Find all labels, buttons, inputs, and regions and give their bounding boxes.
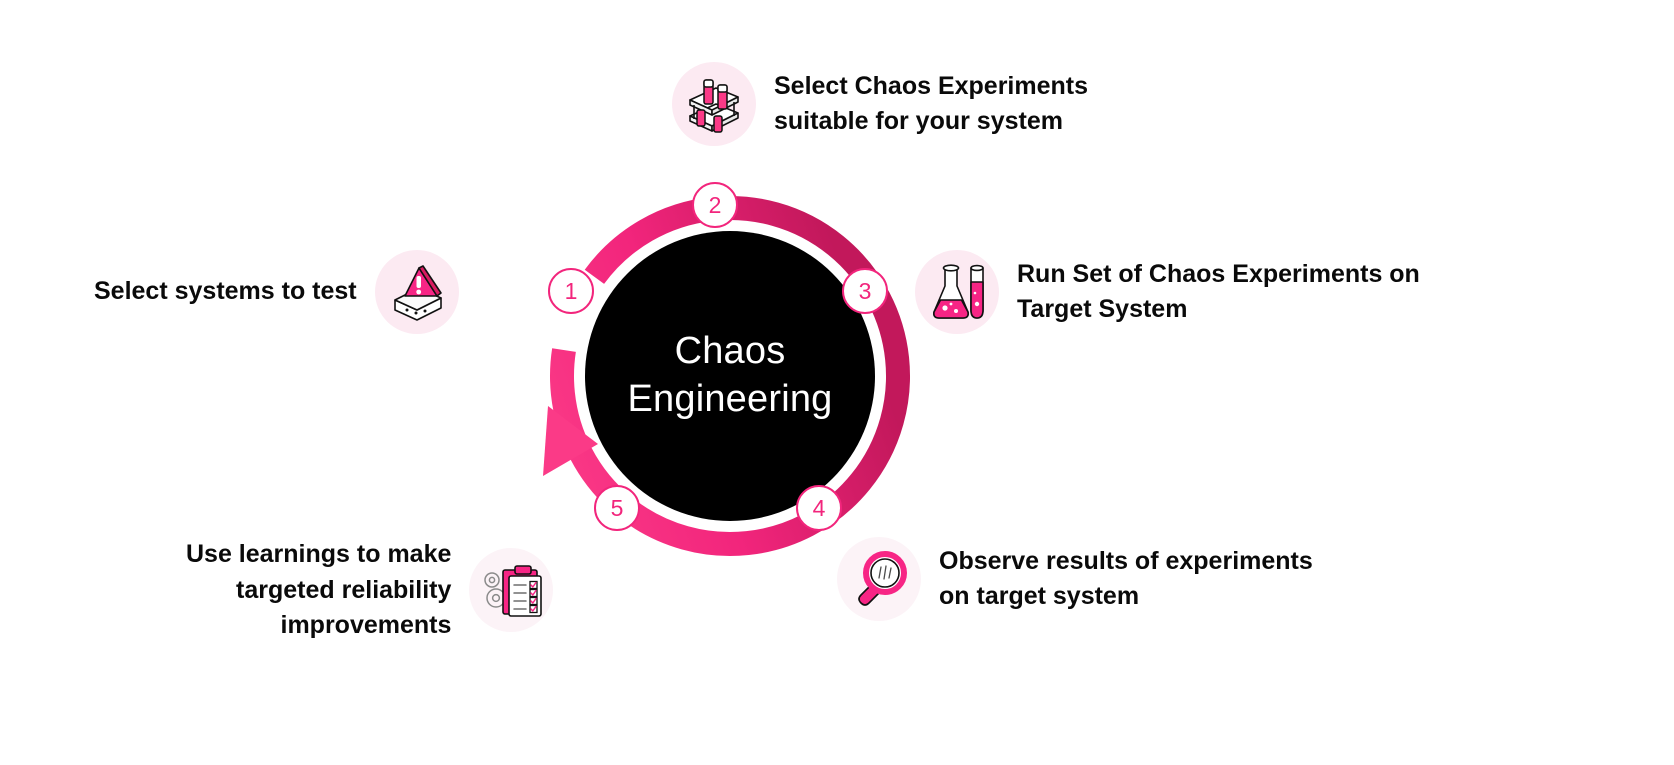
flask-and-test-tube-icon <box>915 250 999 334</box>
step-4-label: Observe results of experiments on target… <box>939 544 1313 615</box>
center-disc: Chaos Engineering <box>585 231 875 521</box>
step-badge-4[interactable]: 4 <box>796 485 842 531</box>
step-1[interactable]: Select systems to test <box>94 250 459 334</box>
step-2[interactable]: Select Chaos Experiments suitable for yo… <box>672 62 1088 146</box>
step-3[interactable]: Run Set of Chaos Experiments on Target S… <box>915 250 1420 334</box>
step-1-label: Select systems to test <box>94 274 357 310</box>
step-5-label: Use learnings to make targeted reliabili… <box>186 537 451 644</box>
test-tube-rack-icon <box>672 62 756 146</box>
chaos-engineering-cycle: Chaos Engineering 1 2 3 4 5 <box>540 180 920 570</box>
center-label: Chaos Engineering <box>627 328 832 424</box>
step-badge-2[interactable]: 2 <box>692 182 738 228</box>
step-badge-3[interactable]: 3 <box>842 268 888 314</box>
step-5[interactable]: Use learnings to make targeted reliabili… <box>186 537 553 644</box>
warning-triangle-icon <box>375 250 459 334</box>
step-badge-1[interactable]: 1 <box>548 268 594 314</box>
step-2-label: Select Chaos Experiments suitable for yo… <box>774 69 1088 140</box>
step-badge-5[interactable]: 5 <box>594 485 640 531</box>
step-3-label: Run Set of Chaos Experiments on Target S… <box>1017 257 1420 328</box>
